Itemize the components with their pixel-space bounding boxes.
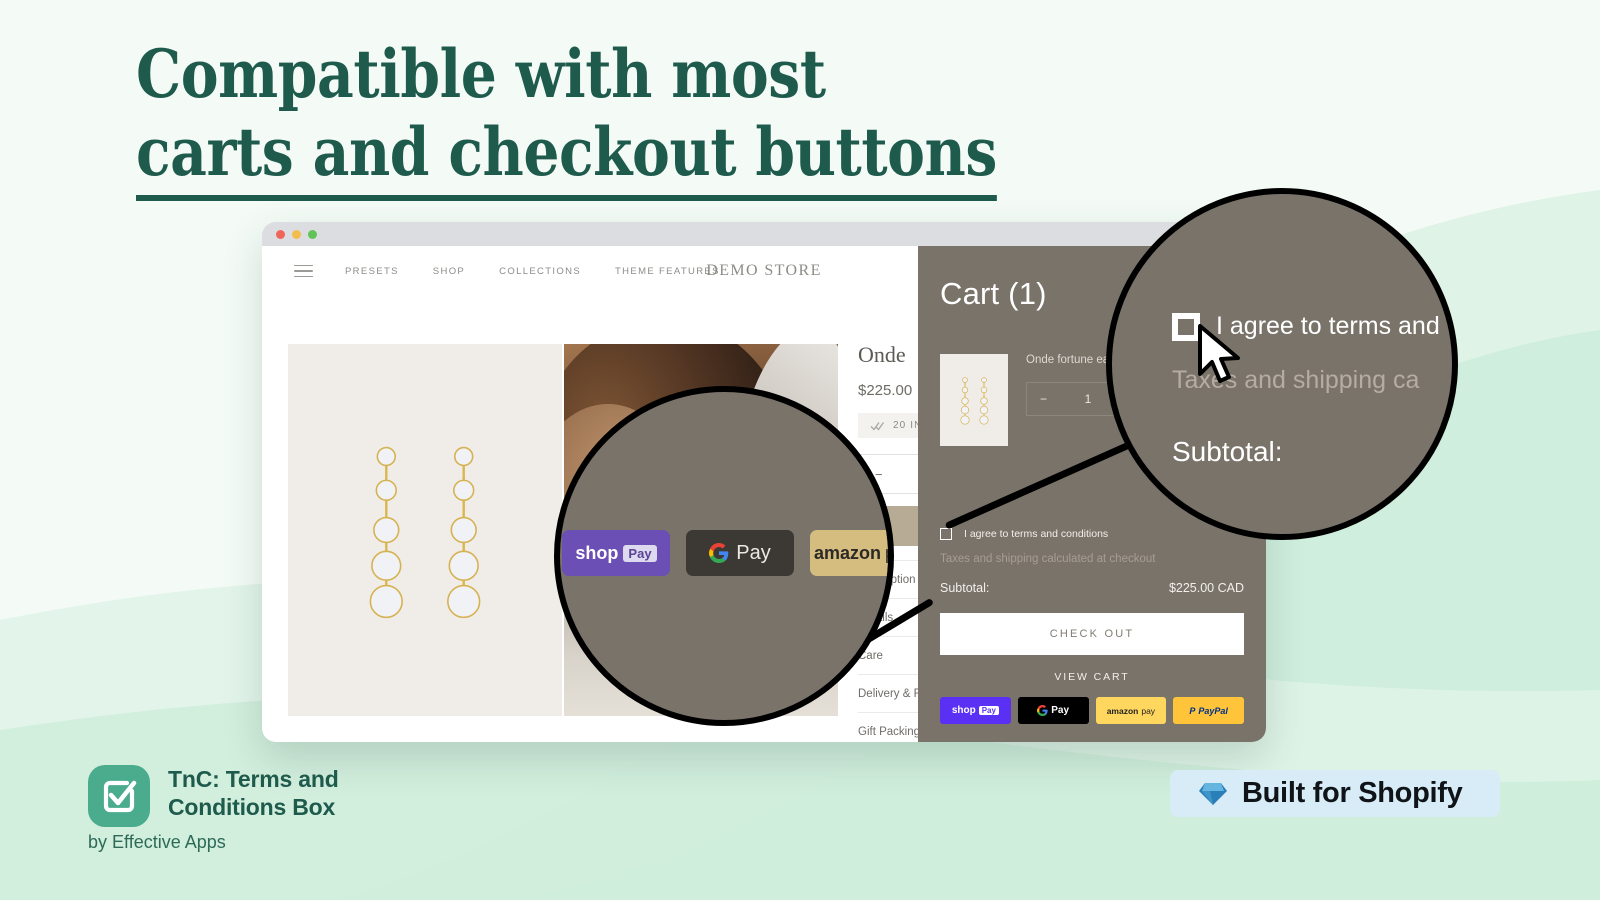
app-author: by Effective Apps: [88, 832, 226, 853]
subtotal-row: Subtotal: $225.00 CAD: [940, 581, 1244, 595]
mouse-pointer-icon: [1196, 324, 1250, 388]
magnified-google-pay-button[interactable]: Pay: [686, 530, 794, 576]
cart-item-thumbnail[interactable]: [940, 354, 1008, 446]
cart-qty-minus[interactable]: −: [1040, 392, 1047, 406]
taxes-note: Taxes and shipping calculated at checkou…: [940, 553, 1244, 565]
amazon-pay-label: amazon: [1107, 706, 1139, 716]
magnified-amazon-pay-label: amazon: [814, 543, 881, 564]
earrings-illustration: [288, 344, 562, 716]
magnified-cart-content: I agree to terms and Taxes and shipping …: [1164, 194, 1458, 534]
google-g-icon: [1037, 705, 1048, 716]
minimize-window-dot[interactable]: [292, 230, 301, 239]
magnified-subtotal-label: Subtotal:: [1172, 436, 1283, 468]
headline-line-1: Compatible with most: [136, 36, 997, 114]
magnified-shop-pay-chip: Pay: [623, 545, 656, 562]
magnified-amazon-pay-button[interactable]: amazon pay: [810, 530, 894, 576]
subtotal-value: $225.00 CAD: [1169, 581, 1244, 595]
hamburger-icon[interactable]: [294, 265, 313, 278]
close-window-dot[interactable]: [276, 230, 285, 239]
cart-qty-value: 1: [1085, 392, 1092, 406]
app-name-line-1: TnC: Terms and: [168, 765, 339, 793]
amazon-pay-chip: pay: [1141, 706, 1155, 716]
nav-item-shop[interactable]: SHOP: [433, 266, 465, 277]
app-name-block: TnC: Terms and Conditions Box: [168, 765, 339, 821]
magnified-google-pay-label: Pay: [736, 542, 770, 565]
nav-item-theme-features[interactable]: THEME FEATURES: [615, 266, 720, 277]
terms-checkbox-label: I agree to terms and conditions: [964, 528, 1108, 540]
subtotal-label: Subtotal:: [940, 581, 989, 595]
magnified-google-g-icon: [709, 543, 729, 563]
magnified-amazon-pay-chip: pay: [885, 543, 894, 564]
nav-item-collections[interactable]: COLLECTIONS: [499, 266, 581, 277]
page-headline: Compatible with most carts and checkout …: [136, 36, 997, 201]
paypal-label: PayPal: [1198, 706, 1228, 716]
app-branding: TnC: Terms and Conditions Box: [88, 765, 339, 827]
cart-footer: I agree to terms and conditions Taxes an…: [940, 528, 1244, 742]
magnified-payment-row: shop Pay Pay amazon pay: [560, 530, 888, 576]
magnified-shop-pay-button[interactable]: shop Pay: [562, 530, 670, 576]
magnifier-payment-buttons: shop Pay Pay amazon pay: [554, 386, 894, 726]
app-name-line-2: Conditions Box: [168, 793, 339, 821]
shop-pay-label: shop: [952, 705, 976, 716]
magnified-shop-pay-label: shop: [575, 543, 618, 564]
paypal-chip: P: [1189, 706, 1195, 716]
shop-pay-chip: Pay: [979, 706, 999, 715]
magnifier-terms-checkbox: I agree to terms and Taxes and shipping …: [1106, 188, 1458, 540]
cart-earrings-thumb-icon: [940, 354, 1008, 446]
checkbox-check-icon: [99, 776, 139, 816]
double-check-icon: [870, 421, 886, 431]
nav-item-presets[interactable]: PRESETS: [345, 266, 399, 277]
google-pay-label: Pay: [1051, 705, 1069, 716]
built-for-shopify-badge: Built for Shopify: [1170, 770, 1500, 817]
paypal-button[interactable]: P PayPal: [1173, 697, 1244, 724]
terms-checkbox[interactable]: [940, 528, 952, 540]
app-icon: [88, 765, 150, 827]
product-image-earrings[interactable]: [288, 344, 562, 716]
amazon-pay-button[interactable]: amazon pay: [1096, 697, 1167, 724]
store-logo[interactable]: DEMO STORE: [706, 262, 822, 280]
checkout-button[interactable]: CHECK OUT: [940, 613, 1244, 655]
diamond-icon: [1198, 781, 1228, 807]
view-cart-link[interactable]: VIEW CART: [940, 671, 1244, 683]
express-payment-buttons: shop Pay Pay: [940, 697, 1244, 724]
headline-line-2: carts and checkout buttons: [136, 114, 997, 201]
zoom-window-dot[interactable]: [308, 230, 317, 239]
shop-pay-button[interactable]: shop Pay: [940, 697, 1011, 724]
browser-titlebar: [262, 222, 1266, 246]
built-for-shopify-text: Built for Shopify: [1242, 777, 1462, 810]
google-pay-button[interactable]: Pay: [1018, 697, 1089, 724]
